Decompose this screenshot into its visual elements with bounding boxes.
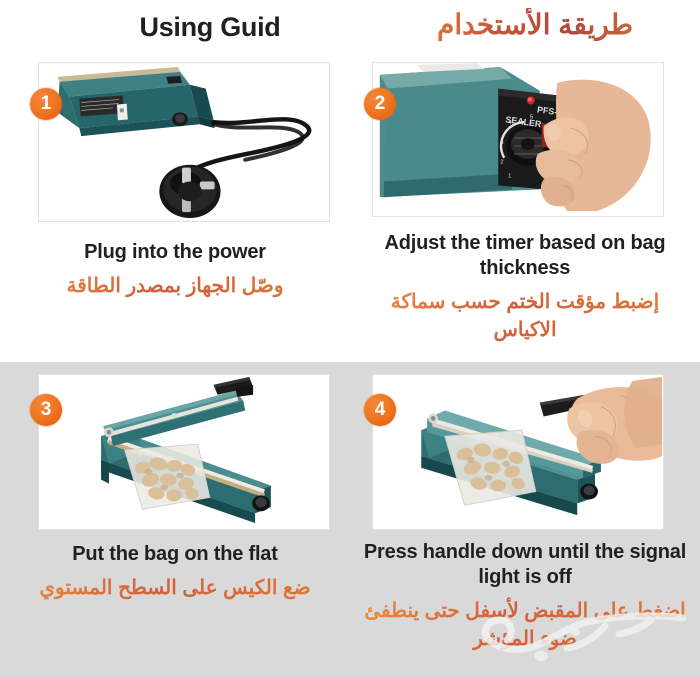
sealer-plug-illustration <box>39 63 329 221</box>
step-2-caption-english: Adjust the timer based on bag thickness <box>360 231 690 281</box>
step-3-caption-arabic: ضع الكيس على السطح المستوي <box>10 574 340 602</box>
step-4-photo <box>372 374 664 530</box>
step-1-photo <box>38 62 330 222</box>
step-1-number-badge: 1 <box>30 88 62 120</box>
step-1: 1 Plug into the power وصّل الجهاز بمصدر … <box>0 0 350 362</box>
step-2-caption: Adjust the timer based on bag thickness … <box>360 231 690 344</box>
usage-guide-infographic: Using Guid طريقة الأستخدام <box>0 0 700 677</box>
step-1-caption: Plug into the power وصّل الجهاز بمصدر ال… <box>10 240 340 300</box>
pressing-handle-illustration <box>373 375 663 529</box>
step-3-caption-english: Put the bag on the flat <box>10 542 340 567</box>
step-3-number-badge: 3 <box>30 394 62 426</box>
step-3: 3 Put the bag on the flat ضع الكيس على ا… <box>0 362 350 677</box>
step-4: 4 Press handle down until the signal lig… <box>350 362 700 677</box>
step-1-caption-arabic: وصّل الجهاز بمصدر الطاقة <box>10 272 340 300</box>
step-4-caption: Press handle down until the signal light… <box>356 540 694 653</box>
sealer-open-with-bag-illustration <box>39 375 329 529</box>
svg-text:1: 1 <box>508 174 511 180</box>
timer-knob-hand-illustration: SEALER PFS-300 4 3 2 1 5 <box>373 63 663 216</box>
svg-text:2: 2 <box>500 160 503 166</box>
step-2-number-badge: 2 <box>364 88 396 120</box>
step-4-caption-arabic: اضغط على المقبض لأسفل حتى ينطفئ ضوء المؤ… <box>356 597 694 653</box>
step-2: SEALER PFS-300 4 3 2 1 5 <box>350 0 700 362</box>
step-3-caption: Put the bag on the flat ضع الكيس على الس… <box>10 542 340 602</box>
step-2-caption-arabic: إضبط مؤقت الختم حسب سماكة الاكياس <box>360 288 690 344</box>
step-4-caption-english: Press handle down until the signal light… <box>356 540 694 590</box>
step-1-caption-english: Plug into the power <box>10 240 340 265</box>
step-2-photo: SEALER PFS-300 4 3 2 1 5 <box>372 62 664 217</box>
step-3-photo <box>38 374 330 530</box>
step-4-number-badge: 4 <box>364 394 396 426</box>
